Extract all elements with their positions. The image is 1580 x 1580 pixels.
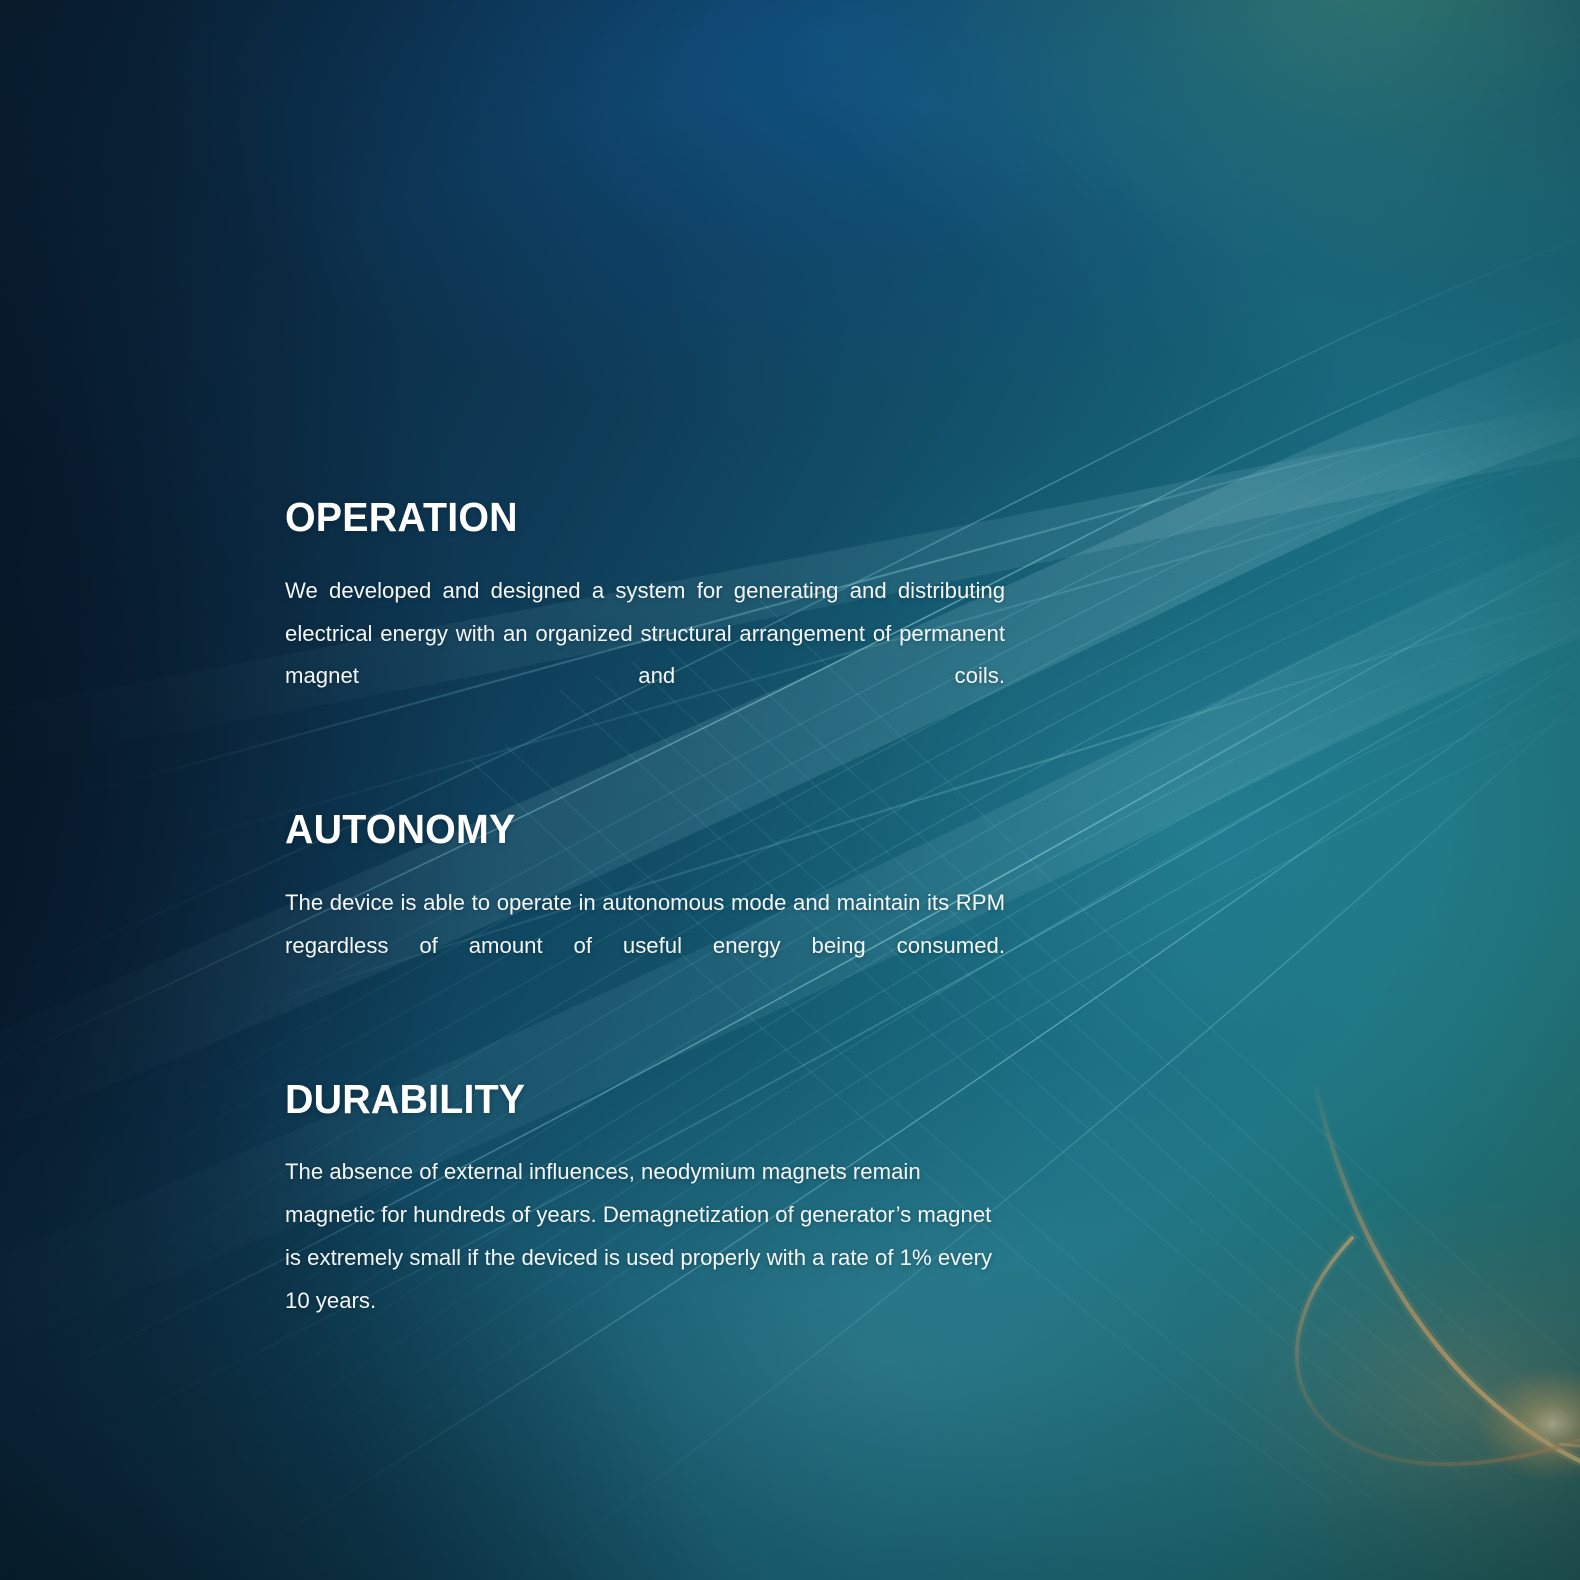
feature-sections: OPERATION We developed and designed a sy… — [285, 497, 1016, 1322]
section-body-autonomy: The device is able to operate in autonom… — [285, 882, 1005, 1010]
section-title-durability: DURABILITY — [285, 1079, 987, 1120]
section-body-operation: We developed and designed a system for g… — [285, 570, 1005, 740]
section-durability: DURABILITY The absence of external influ… — [285, 1079, 1016, 1322]
section-autonomy: AUTONOMY The device is able to operate i… — [285, 809, 1016, 1010]
section-body-durability: The absence of external influences, neod… — [285, 1150, 1005, 1322]
section-title-autonomy: AUTONOMY — [285, 809, 987, 850]
section-operation: OPERATION We developed and designed a sy… — [285, 497, 1016, 740]
slide-canvas: OPERATION We developed and designed a sy… — [0, 0, 1580, 1580]
section-title-operation: OPERATION — [285, 497, 987, 538]
